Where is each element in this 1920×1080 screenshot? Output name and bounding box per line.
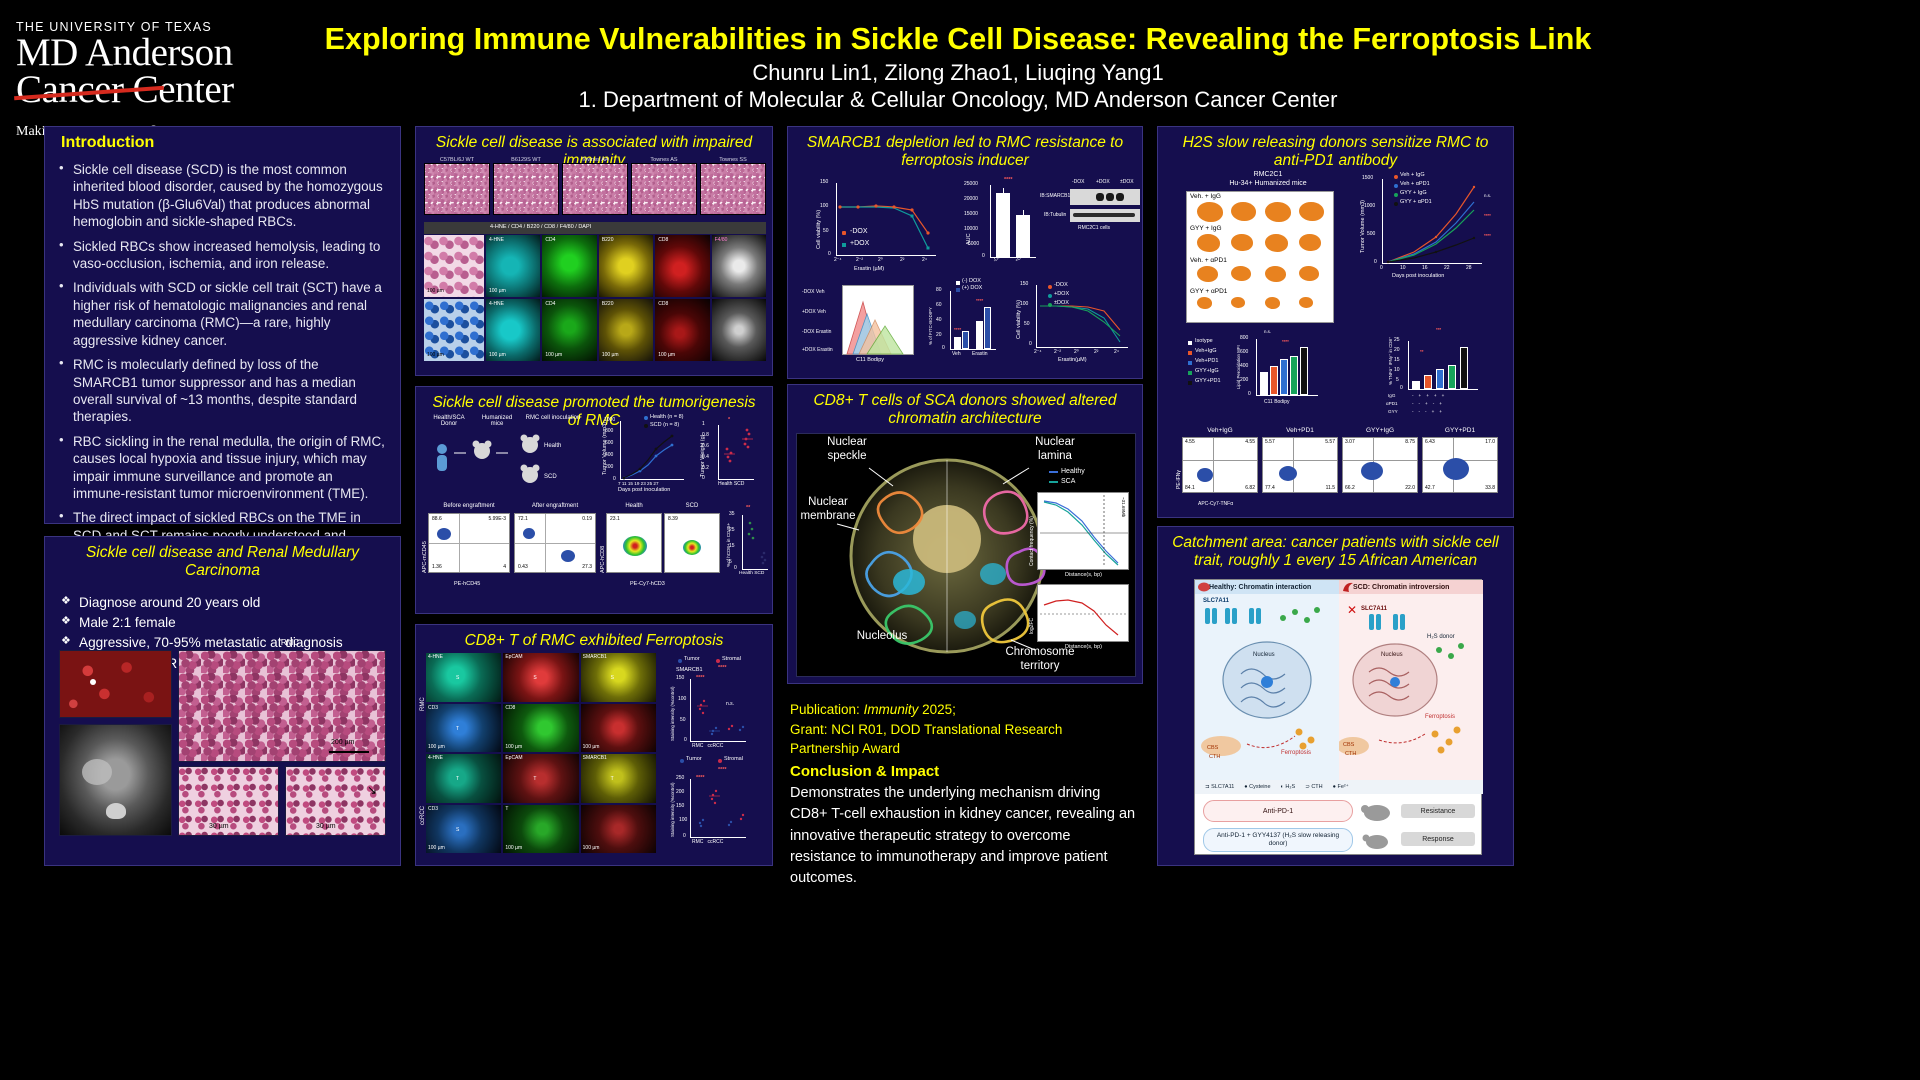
conclusion-body: Demonstrates the underlying mechanism dr… [790,783,1140,890]
stain-tile: CD3S 100 µm [426,805,501,854]
mechanism-header-scd: SCD: Chromatin introversion [1339,580,1483,594]
outcome-response: Response [1401,832,1475,846]
x-axis [1408,389,1478,390]
introduction-bullet-list: Sickle cell disease (SCD) is the most co… [45,157,400,577]
facs-quadrant-value: 22.0 [1405,485,1415,491]
conclusion-title: Conclusion & Impact [790,763,939,780]
rmc-histology-zoom-2: ↘ 30 µm [285,766,386,836]
facs-header: Veh+PD1 [1262,427,1338,434]
tumor-image [1299,202,1324,221]
intensity-points [691,679,747,741]
stain-col-label: CD8 [658,237,668,243]
tumor-image [1265,202,1291,222]
y-tick: 400 [1240,363,1248,369]
slc7a11-label: SLC7A11 [1361,606,1387,612]
y-tick: 250 [676,775,684,781]
facs-quadrant-value: 6.43 [1425,439,1435,445]
perls-stain-scd: 100 µm [424,299,484,361]
y-tick: 0 [613,476,616,482]
publication-block: Publication: Immunity 2025; Grant: NCI R… [790,700,1142,759]
tumorigenesis-schematic: Health/SCA Donor Humanized mice RMC cell… [426,415,596,493]
facs-quadrant-value: 0.43 [518,564,528,570]
grant-line-1: Grant: NCI R01, DOD Translational Resear… [790,720,1142,740]
x-tick: 10 [1400,265,1406,271]
legend-marker-nodox [842,231,846,235]
mouse-icon [1357,828,1397,852]
bar-tnf-3 [1436,369,1444,389]
histogram-row-label: +DOX Veh [802,309,826,315]
weight-points [719,423,757,479]
smear-image [562,163,628,215]
density-plot-health: 23.1 [606,513,662,573]
stain-col-label: CD4 [545,301,555,307]
panel-impaired-immunity: Sickle cell disease is associated with i… [415,126,773,376]
significance-label: **** [696,775,705,781]
y-axis-label: Tumor Volume (mm3) [602,422,608,475]
significance-label: **** [1484,213,1491,218]
legend-label: ±DOX [1054,300,1069,306]
density-value: 8.39 [668,516,678,522]
nucleus-label-speckle: Nuclear speckle [815,436,879,464]
y-tick: 100 [678,696,686,702]
facs-quadrant-value: 88.6 [432,516,442,522]
rbc-sickle-icon [1341,581,1355,593]
y-axis [990,185,991,257]
svg-text:CBS: CBS [1343,742,1355,748]
legend-marker [1188,341,1192,345]
stain-tile: CD8 100 µm [503,704,578,753]
bar-tnf-2 [1424,375,1432,389]
stain-tile: 100 µm [581,805,656,854]
poster-root: THE UNIVERSITY OF TEXAS MD Anderson Canc… [0,0,1920,1080]
stain-4hne-wt: 4-HNE 100 µm [486,235,540,297]
svg-text:Ferroptosis: Ferroptosis [1425,714,1455,720]
density-x-axis-label: PE-Cy7-hCD3 [630,581,665,587]
stain-tile: T 100 µm [503,805,578,854]
western-blot: -DOX +DOX ±DOX IB:SMARCB1 IB:Tubulin RMC… [1052,179,1140,249]
svg-text:H₂S donor: H₂S donor [1427,634,1455,640]
tumor-growth-chart: 1000 800 600 400 200 0 Health (n = 8) SC… [604,417,688,495]
y-tick: 0 [828,251,831,257]
y-tick: 600 [1240,349,1248,355]
scale-label: 100 µm [427,288,444,294]
facs-quadrant-value: 6.82 [1245,485,1255,491]
cd8-ferroptosis-title: CD8+ T of RMC exhibited Ferroptosis [416,625,772,654]
significance-label: n.s. [1264,329,1271,334]
x-axis-label: Erastin (µM) [854,266,884,272]
stain-cd8-wt: CD8 [655,235,709,297]
bar-veh-pd1 [1280,359,1288,395]
x-tick-labels: Health SCD [739,571,764,576]
facs-header: GYY+PD1 [1422,427,1498,434]
legend-label: Healthy [1061,468,1085,475]
publication-year: 2025; [922,702,956,717]
bar-tnf-4 [1448,365,1456,389]
significance-label: n.s. [1484,193,1491,198]
model-label-1: RMC2C1 [1198,171,1338,178]
x-axis-label: Days post inoculation [1392,273,1444,279]
y-axis-label: Lipid Peroxidation MFI [1236,345,1241,389]
density-plot-group: Health SCD 23.1 8.39 PE-Cy7-hCD3 APC-hCD… [606,503,722,603]
stain-col-label: 4-HNE [489,301,504,307]
significance-label: **** [1484,233,1491,238]
facs-row: Veh+IgG Veh+PD1 GYY+IgG GYY+PD1 4.55 4.5… [1178,427,1508,513]
bar-veh-nodox [954,337,961,349]
mechanism-header-label: SCD: Chromatin introversion [1353,584,1449,591]
blot-row-tubulin [1070,209,1140,222]
significance-label: ** [746,505,750,511]
legend-label: +DOX [850,240,869,247]
legend-item: ⊃ CTH [1305,784,1322,790]
facs-x-axis-label: PE-hCD45 [454,581,480,587]
smarcb1-title: SMARCB1 depletion led to RMC resistance … [788,127,1142,175]
nucleus-label-territory: Chromosome territory [997,646,1083,674]
bar-gyy-igg [1290,356,1298,395]
stain-cd8-scd: CD8 100 µm [655,299,709,361]
rmc-histology-image: 200 µm [178,650,386,762]
arrow-icon: ↘ [367,783,377,797]
y-tick: 5 [1396,377,1399,383]
contact-frequency-plot: ~31.69Mb [1037,492,1129,570]
grant-line-2: Partnership Award [790,739,1142,759]
facs-quadrant-value: 4.55 [1185,439,1195,445]
legend-marker-scd [644,424,648,428]
y-tick: 1500 [1362,175,1373,181]
legend-marker-dox [956,288,960,292]
scd-rmc-title: Sickle cell disease and Renal Medullary … [45,537,400,585]
facs-quadrant-value: 3.07 [1345,439,1355,445]
perls-stain-wt: 100 µm [424,235,484,297]
slc7a11-label: SLC7A11 [1203,598,1229,604]
bar-gyy-pd1 [1300,347,1308,395]
y-axis-label: Tumor Weight (g) [700,435,706,477]
y-tick: 150 [1020,281,1028,287]
stain-tile: 4-HNET [426,754,501,803]
tumor-image [1231,297,1245,308]
stain-row-scd: 100 µm 4-HNE 100 µm CD4 100 µm B220 100 … [424,299,766,361]
blot-row-label: IB:SMARCB1 [1040,193,1070,199]
y-tick: 500 [1367,231,1375,237]
stain-b220-scd: B220 100 µm [599,299,653,361]
y-axis-label: Tumor Volume (mm3) [1360,200,1366,253]
stain-tile: CD3T 100 µm [426,704,501,753]
stain-tile: 100 µm [581,704,656,753]
legend-label: SCA [1061,478,1075,485]
tumor-image [1299,297,1313,308]
y-tick: 60 [936,302,942,308]
facs-plot-before: 88.6 5.99E-3 1.36 4 [428,513,510,573]
svg-text:Ferroptosis: Ferroptosis [1281,750,1311,756]
tumor-image [1231,234,1253,251]
facs-plot-after: 72.1 0.19 0.43 27.3 [514,513,596,573]
poster-affiliation: 1. Department of Molecular & Cellular On… [238,87,1678,113]
x-tick-label: Erastin [972,351,988,357]
legend-item: ● Fe²⁺ [1333,784,1349,790]
blot-lane-label: ±DOX [1120,179,1134,185]
growth-curves [620,420,686,480]
rbc-healthy-icon [1197,581,1211,593]
legend-label: Health (n = 8) [650,414,683,420]
legend-marker [1048,303,1052,307]
svg-text:SCD: SCD [544,474,557,480]
y-tick: 100 [820,203,828,209]
significance-label: *** [1436,327,1441,332]
facs-plot: 5.57 5.57 77.4 11.5 [1262,437,1338,493]
histogram-row-label: -DOX Veh [802,289,825,295]
row-label: GYY [1388,409,1398,414]
facs-quadrant-value: 72.1 [518,516,528,522]
scale-label: 30 µm [209,823,229,830]
y-tick: 50 [680,717,686,723]
x-tick: 2⁻⁴ [834,257,842,263]
tumor-group-label: GYY + αPD1 [1190,288,1227,295]
introduction-title: Introduction [45,127,400,157]
significance-label: **** [976,298,983,303]
legend-marker [1394,193,1398,197]
x-tick: 2⁰ [878,257,883,263]
tumor-group-label: Veh. + IgG [1190,193,1221,200]
scale-label: 100 µm [427,352,444,358]
legend-marker [1188,351,1192,355]
y-tick: 800 [1240,335,1248,341]
schematic-step-label: Health/SCA Donor [426,415,472,427]
stain-col-label: 4-HNE [489,237,504,243]
tumor-image [1299,234,1321,251]
legend-label: Isotype [1195,338,1213,344]
stain-row-wt: 100 µm 4-HNE 100 µm CD4 B220 CD8 F4/80 [424,235,766,297]
y-axis-label: % of FITC-BODIPY [928,307,933,345]
tumor-group-label: GYY + IgG [1190,225,1222,232]
legend-marker [1188,371,1192,375]
y-axis-label: Staining intensity (%control) [670,687,675,741]
scale-label: 100 µm [658,352,675,358]
x-tick: 2² [1094,349,1098,355]
facs-quadrant-value: 8.75 [1405,439,1415,445]
y-tick: 0 [684,737,687,743]
smear-image [493,163,559,215]
blot-lane-label: -DOX [1072,179,1085,185]
y-tick: 1 [702,421,705,427]
x-tick: 16 [1422,265,1428,271]
stain-4hne-scd: 4-HNE 100 µm [486,299,540,361]
x-axis-label: C11 Bodipy [1264,399,1289,405]
tumor-group-label: Veh. + αPD1 [1190,257,1227,264]
legend-label: (+) DOX [962,285,982,291]
x-tick-labels: RMC ccRCC [692,839,723,845]
stain-col-label: CD8 [658,301,668,307]
smear-image [700,163,766,215]
facs-quadrant-value: 77.4 [1265,485,1275,491]
tumor-image [1231,266,1251,281]
y-tick: 35 [729,511,735,517]
x-tick-label: Veh [952,351,961,357]
significance-label: **** [1004,177,1013,183]
y-tick: 50 [823,228,829,234]
legend-label: GYY+IgG [1195,368,1219,374]
publication-label: Publication: [790,702,860,717]
density-header: Health [606,503,662,509]
stain-row-label: RMC [420,697,426,711]
y-tick: 150 [676,803,684,809]
y-tick: 20000 [964,196,978,202]
significance-label: ** [1420,349,1423,354]
svg-text:Nucleus: Nucleus [1381,652,1403,658]
stain-f480-wt: F4/80 [712,235,766,297]
legend-label: GYY + IgG [1400,190,1427,196]
y-tick: 20 [936,332,942,338]
y-tick: 150 [820,179,828,185]
facs-header: GYY+IgG [1342,427,1418,434]
facs-quadrant-value: 17.0 [1485,439,1495,445]
blood-smear-row: C57BL/6J WT B6129S WT Townes AA Townes A… [424,157,766,215]
x-tick: 2⁻⁴ [1034,349,1042,355]
stain-f480-scd [712,299,766,361]
x-axis [742,569,768,570]
y-tick: 50 [1024,321,1030,327]
svg-text:CTH: CTH [1345,751,1356,757]
ferroptosis-stain-grid: 4-HNES EpCAMS SMARCB1S CD3T 100 µm CD8 1… [426,653,656,853]
tumor-image [1265,234,1288,252]
y-tick: 0 [1400,385,1403,391]
histogram-row-label: +DOX Erastin [802,347,833,353]
facs-quadrant-value: 4.55 [1245,439,1255,445]
scale-label: 200 µm [331,739,355,746]
histogram-x-axis-label: C11 Bodipy [856,357,884,363]
tumor-image [1265,297,1280,309]
y-axis-label: % TNFα⁺ IFNγ⁺ in CD8⁺ [1388,337,1394,385]
bar-tnf-1 [1412,381,1420,389]
y-axis [950,291,951,349]
significance-label: n.s. [726,701,734,707]
sign-row: --+-+ [1412,401,1447,406]
x-tick-labels: RMC ccRCC [692,743,723,749]
y-tick: 80 [936,287,942,293]
legend-marker [1048,294,1052,298]
rmc-histology-zoom-1: 30 µm [178,766,279,836]
x-axis [690,741,746,742]
chromatin-title: CD8+ T cells of SCA donors showed altere… [788,385,1142,433]
blot-lane-label: +DOX [1096,179,1110,185]
y-tick: 0 [1374,259,1377,265]
stain-cd4-scd: CD4 100 µm [542,299,596,361]
logo-mdanderson: MD Anderson [16,34,236,71]
legend-marker [1394,175,1398,179]
panel-h2s: H2S slow releasing donors sensitize RMC … [1157,126,1514,518]
nucleus-label-nucleolus: Nucleolus [851,630,913,644]
poster-title: Exploring Immune Vulnerabilities in Sick… [238,22,1678,56]
log2fc-plot [1037,584,1129,642]
y-tick: 200 [676,789,684,795]
facs-quadrant-value: 5.57 [1265,439,1275,445]
stain-tile: 4-HNES [426,653,501,702]
nucleus-label-membrane: Nuclear membrane [799,496,857,524]
legend-label: SCD (n = 8) [650,422,679,428]
x-axis [690,837,746,838]
list-item: Individuals with SCD or sickle cell trai… [55,279,386,349]
y-tick: 200 [1240,377,1248,383]
panel-tumorigenesis: Sickle cell disease promoted the tumorig… [415,386,773,614]
facs-engraftment-group: Before engraftment After engraftment 88.… [428,503,598,603]
error-bar [1003,188,1004,196]
significance-label: **** [954,327,961,332]
stain-tile: SMARCB1T [581,754,656,803]
viability-chart: 150 100 50 0 -DOX +DOX 2⁻⁴ 2⁻² 2⁰ 2² 2⁴ … [808,179,948,279]
x-axis [718,479,754,480]
legend-label: Veh+PD1 [1195,358,1218,364]
legend-label: (-) DOX [962,278,981,284]
panel-introduction: Introduction Sickle cell disease (SCD) i… [44,126,401,524]
plot1-y-axis-label: Contact frequency (%) [1029,516,1035,566]
legend-label: Veh + αPD1 [1400,181,1430,187]
y-axis-label: Staining intensity (%control) [670,783,675,837]
y-tick: 0 [683,833,686,839]
legend-label: +DOX [1054,291,1069,297]
chart-title: SMARCB1 [676,667,703,673]
svg-text:✕: ✕ [1347,603,1357,617]
y-tick: 10000 [964,226,978,232]
x-tick-labels: Health SCD [718,481,744,487]
density-y-axis-label: APC-hCD8 [600,546,606,573]
list-item: Diagnose around 20 years old [61,593,388,613]
publication-journal: Immunity [864,702,919,717]
poster-authors: Chunru Lin1, Zilong Zhao1, Liuqing Yang1 [238,60,1678,86]
legend-item: ● Cysteine [1244,784,1270,790]
mouse-icon [1357,800,1397,822]
svg-text:Health: Health [544,443,561,449]
tumor-photo-grid: Veh. + IgG GYY + IgG Veh. + αPD1 GYY + α… [1186,191,1334,323]
x-axis-label: Erastin(µM) [1058,357,1087,363]
tnf-ifng-chart: 25 20 15 10 5 0 *** ** IgG αPD1 GYY -+++… [1386,319,1510,423]
stain-col-label: CD4 [545,237,555,243]
row-label: αPD1 [1386,401,1398,406]
x-tick: 2⁰ [1074,349,1079,355]
y-tick: 100 [679,817,687,823]
legend-label: Veh+IgG [1195,348,1217,354]
x-tick-row: 7 11 15 19 23 25 27 [618,481,659,486]
legend-marker-tumor [680,759,684,763]
y-axis-label: AUC [966,233,972,245]
legend-marker-dox [842,243,846,247]
legend-label: GYY+PD1 [1195,378,1221,384]
stain-tile: SMARCB1S [581,653,656,702]
legend-item: ⊐ SLC7A11 [1205,784,1234,790]
stain-cd4-wt: CD4 [542,235,596,297]
panel-smarcb1: SMARCB1 depletion led to RMC resistance … [787,126,1143,379]
y-axis [1408,341,1409,389]
tumor-image [1231,202,1256,221]
h2s-title: H2S slow releasing donors sensitize RMC … [1158,127,1513,175]
tumor-volume-chart: 1500 1000 500 0 Veh + IgG Veh + αPD1 GYY… [1354,171,1506,295]
mechanism-body-healthy: SLC7A11 Nucleus [1195,594,1339,780]
panel-chromatin: CD8+ T cells of SCA donors showed altere… [787,384,1143,684]
svg-text:CBS: CBS [1207,745,1219,751]
svg-text:Nucleus: Nucleus [1253,652,1275,658]
ct-scan-image [59,724,172,836]
x-axis-label: Days post inoculation [618,487,670,493]
tumor-image [1197,297,1212,309]
treatment-antipd1: Anti-PD-1 [1203,800,1353,822]
svg-text:CTH: CTH [1209,754,1220,760]
x-tick: 28 [1466,265,1472,271]
legend-marker-health [644,416,648,420]
tumor-image [1265,266,1286,282]
intensity-points [691,779,747,837]
publication-line-1: Publication: Immunity 2025; [790,700,1142,720]
bar-nodox [996,193,1010,257]
poster-header: THE UNIVERSITY OF TEXAS MD Anderson Canc… [0,0,1920,140]
stain-row-label: ccRCC [420,806,426,825]
volume-curves [1382,178,1482,264]
